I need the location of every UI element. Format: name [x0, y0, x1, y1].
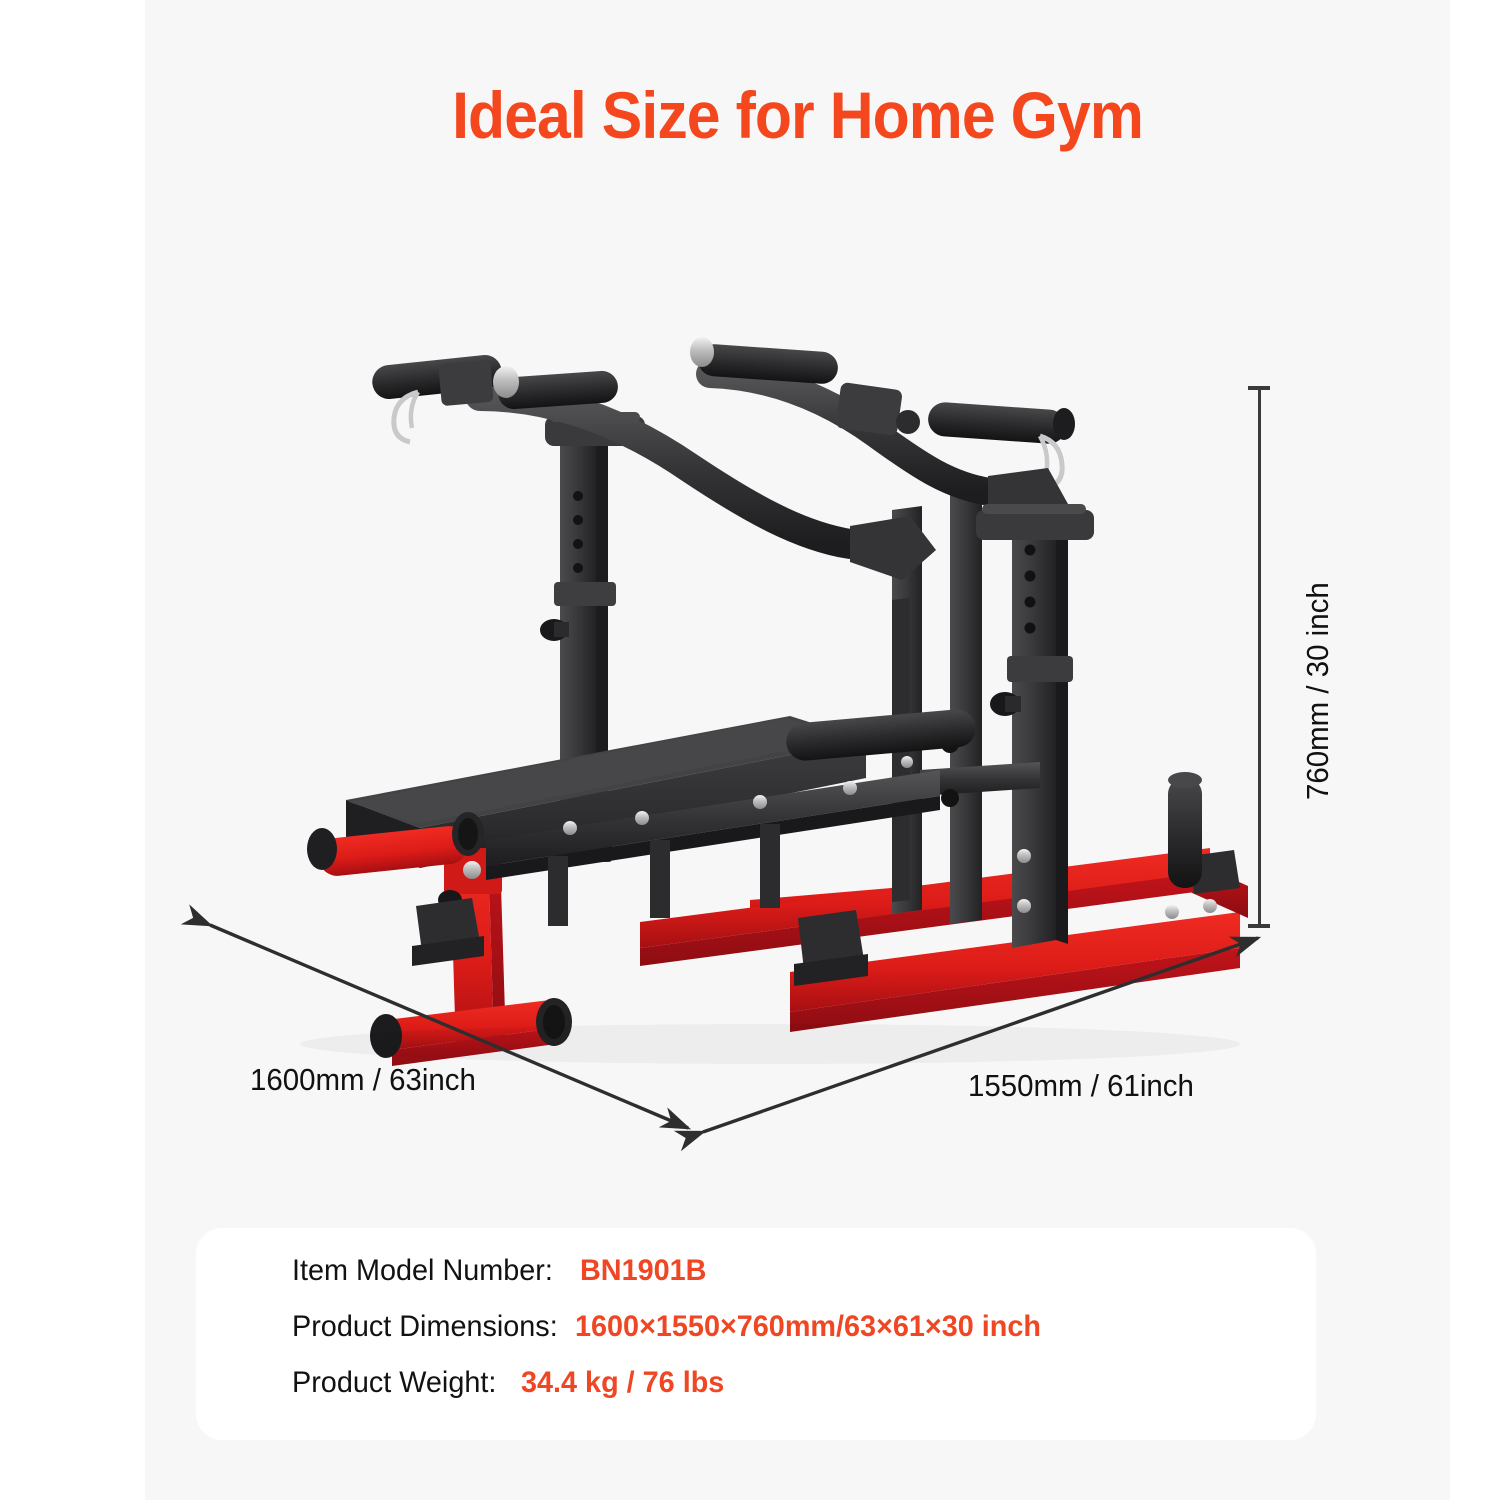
spec-row-model: Item Model Number: BN1901B — [292, 1254, 1060, 1310]
spec-list: Item Model Number: BN1901B Product Dimen… — [292, 1254, 1060, 1422]
spec-label-weight: Product Weight: — [292, 1366, 496, 1400]
dimension-label-depth: 1600mm / 63inch — [250, 1062, 476, 1098]
dimension-label-width: 1550mm / 61inch — [968, 1068, 1194, 1104]
infographic-root: Ideal Size for Home Gym — [0, 0, 1500, 1500]
spec-row-weight: Product Weight: 34.4 kg / 76 lbs — [292, 1366, 1060, 1422]
spec-card: Item Model Number: BN1901B Product Dimen… — [196, 1228, 1316, 1440]
height-line — [1258, 388, 1261, 928]
page-title: Ideal Size for Home Gym — [197, 78, 1398, 152]
dimension-label-height: 760mm / 30 inch — [1300, 582, 1336, 800]
spec-value-dimensions: 1600×1550×760mm/63×61×30 inch — [575, 1310, 1041, 1344]
height-cap-top — [1248, 386, 1270, 390]
spec-label-dimensions: Product Dimensions: — [292, 1310, 558, 1344]
lever-press-arms — [371, 337, 1094, 580]
spec-value-model: BN1901B — [580, 1254, 706, 1288]
spec-row-dimensions: Product Dimensions: 1600×1550×760mm/63×6… — [292, 1310, 1060, 1366]
product-image — [150, 300, 1330, 1100]
red-base-frame — [640, 848, 1248, 1032]
height-cap-bottom — [1248, 924, 1270, 928]
spec-label-model: Item Model Number: — [292, 1254, 553, 1288]
handle-grip-right — [690, 337, 1075, 488]
spec-value-weight: 34.4 kg / 76 lbs — [521, 1366, 724, 1400]
